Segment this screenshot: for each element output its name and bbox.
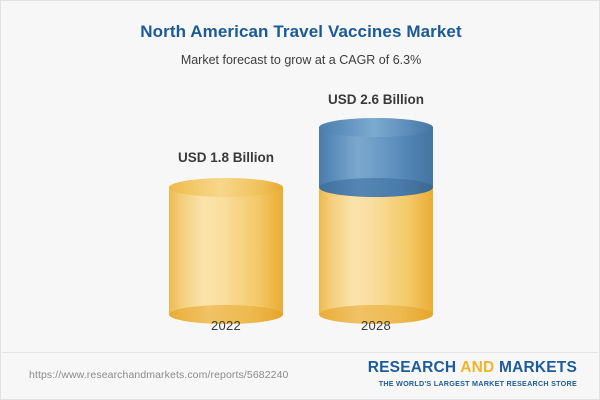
research-and-markets-logo[interactable]: RESEARCH AND MARKETS THE WORLD'S LARGEST… xyxy=(368,359,577,389)
chart-subtitle: Market forecast to grow at a CAGR of 6.3… xyxy=(1,43,600,68)
bar-cylinder-2028 xyxy=(319,118,433,314)
bar-segment-2028-base xyxy=(319,178,433,314)
brand-word-and: AND xyxy=(456,359,499,376)
bar-cylinder-2022 xyxy=(169,178,283,314)
source-url-link[interactable]: https://www.researchandmarkets.com/repor… xyxy=(29,369,288,381)
bar-group-2022: USD 1.8 Billion 2022 xyxy=(141,81,311,341)
segment-top-cap xyxy=(319,118,433,137)
bar-segment-2022-base xyxy=(169,178,283,314)
chart-footer: https://www.researchandmarkets.com/repor… xyxy=(1,353,600,400)
segment-body xyxy=(319,187,433,314)
chart-header: North American Travel Vaccines Market Ma… xyxy=(1,1,600,68)
bar-value-label-2022: USD 1.8 Billion xyxy=(141,149,311,166)
bar-category-label-2022: 2022 xyxy=(141,318,311,333)
bar-category-label-2028: 2028 xyxy=(291,318,461,333)
bar-value-label-2028: USD 2.6 Billion xyxy=(291,91,461,108)
chart-plot-area: USD 1.8 Billion 2022 USD 2.6 Billion xyxy=(1,81,600,341)
segment-top-cap xyxy=(169,178,283,197)
segment-bottom-cap xyxy=(319,178,433,197)
chart-title: North American Travel Vaccines Market xyxy=(1,21,600,43)
bar-segment-2028-growth xyxy=(319,118,433,187)
brand-word-research: RESEARCH xyxy=(368,359,457,376)
brand-tagline: THE WORLD'S LARGEST MARKET RESEARCH STOR… xyxy=(368,377,577,389)
infographic-chart-card: North American Travel Vaccines Market Ma… xyxy=(0,0,600,400)
segment-body xyxy=(169,187,283,314)
bar-group-2028: USD 2.6 Billion 2028 xyxy=(291,81,461,341)
brand-word-markets: MARKETS xyxy=(499,359,577,376)
brand-name: RESEARCH AND MARKETS xyxy=(368,359,577,377)
